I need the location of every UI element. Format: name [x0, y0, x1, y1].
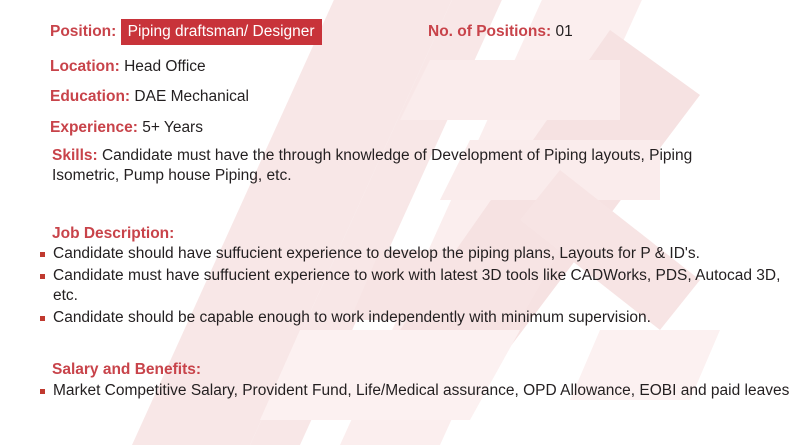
job-description-heading: Job Description: — [52, 226, 174, 242]
list-item: Candidate should have suffucient experie… — [40, 244, 795, 265]
field-position: Position: Piping draftsman/ Designer — [50, 24, 322, 40]
job-posting-page: Position: Piping draftsman/ Designer No.… — [0, 0, 800, 445]
skills-label: Skills: — [52, 147, 98, 164]
list-item: Candidate should be capable enough to wo… — [40, 308, 795, 329]
experience-value: 5+ Years — [142, 119, 203, 136]
position-value: Piping draftsman/ Designer — [121, 19, 322, 45]
bullet-square-icon — [40, 389, 45, 394]
education-value: DAE Mechanical — [134, 88, 249, 105]
bullet-square-icon — [40, 274, 45, 279]
experience-label: Experience: — [50, 119, 138, 136]
list-item-text: Candidate must have suffucient experienc… — [53, 267, 780, 305]
location-value: Head Office — [124, 58, 206, 75]
salary-and-benefits-list: Market Competitive Salary, Provident Fun… — [40, 381, 795, 403]
list-item-text: Candidate should have suffucient experie… — [53, 245, 700, 262]
job-description-list: Candidate should have suffucient experie… — [40, 244, 795, 329]
location-label: Location: — [50, 58, 120, 75]
bullet-square-icon — [40, 316, 45, 321]
list-item-text: Market Competitive Salary, Provident Fun… — [53, 382, 789, 399]
no-of-positions-value: 01 — [555, 23, 572, 40]
field-location: Location: Head Office — [50, 59, 206, 75]
bullet-square-icon — [40, 252, 45, 257]
skills-value: Candidate must have the through knowledg… — [52, 147, 692, 184]
field-skills: Skills: Candidate must have the through … — [52, 146, 752, 186]
position-label: Position: — [50, 23, 116, 40]
list-item: Candidate must have suffucient experienc… — [40, 266, 795, 307]
field-experience: Experience: 5+ Years — [50, 120, 203, 136]
field-no-of-positions: No. of Positions: 01 — [428, 24, 573, 40]
salary-and-benefits-heading: Salary and Benefits: — [52, 362, 201, 378]
list-item-text: Candidate should be capable enough to wo… — [53, 309, 651, 326]
education-label: Education: — [50, 88, 130, 105]
no-of-positions-label: No. of Positions: — [428, 23, 551, 40]
field-education: Education: DAE Mechanical — [50, 89, 249, 105]
list-item: Market Competitive Salary, Provident Fun… — [40, 381, 795, 402]
